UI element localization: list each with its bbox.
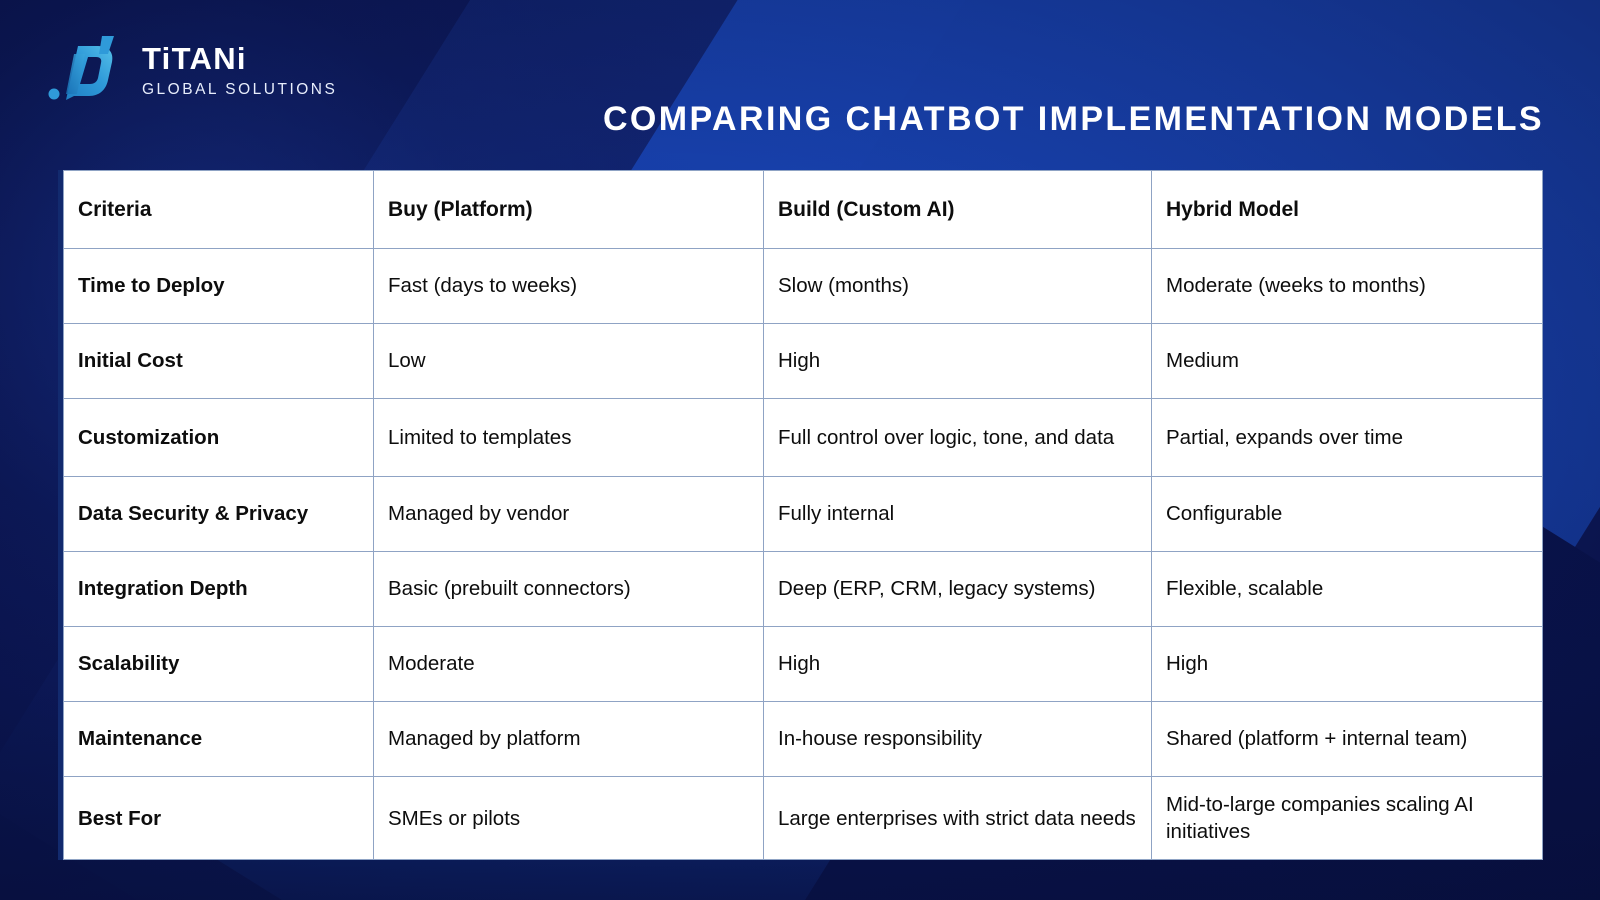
cell-hybrid: Mid-to-large companies scaling AI initia…	[1152, 777, 1543, 860]
cell-build: Full control over logic, tone, and data	[764, 399, 1152, 477]
cell-buy: Managed by vendor	[374, 477, 764, 552]
table-row: Customization Limited to templates Full …	[64, 399, 1543, 477]
cell-build: Fully internal	[764, 477, 1152, 552]
column-header-build: Build (Custom AI)	[764, 171, 1152, 249]
cell-buy: Fast (days to weeks)	[374, 249, 764, 324]
cell-criteria: Customization	[64, 399, 374, 477]
cell-buy: Limited to templates	[374, 399, 764, 477]
cell-build: Large enterprises with strict data needs	[764, 777, 1152, 860]
table-row: Data Security & Privacy Managed by vendo…	[64, 477, 1543, 552]
titani-logo-mark-icon	[44, 32, 128, 108]
table-row: Best For SMEs or pilots Large enterprise…	[64, 777, 1543, 860]
brand-logo-text: TiTANi GLOBAL SOLUTIONS	[142, 39, 337, 101]
cell-criteria: Best For	[64, 777, 374, 860]
column-header-criteria: Criteria	[64, 171, 374, 249]
brand-logo: TiTANi GLOBAL SOLUTIONS	[44, 32, 337, 108]
cell-build: Slow (months)	[764, 249, 1152, 324]
cell-criteria: Time to Deploy	[64, 249, 374, 324]
table-row: Maintenance Managed by platform In-house…	[64, 702, 1543, 777]
cell-build: Deep (ERP, CRM, legacy systems)	[764, 552, 1152, 627]
cell-buy: Basic (prebuilt connectors)	[374, 552, 764, 627]
brand-name: TiTANi	[142, 43, 337, 75]
slide-header: TiTANi GLOBAL SOLUTIONS COMPARING CHATBO…	[0, 0, 1600, 168]
cell-hybrid: Configurable	[1152, 477, 1543, 552]
cell-criteria: Maintenance	[64, 702, 374, 777]
table-body: Time to Deploy Fast (days to weeks) Slow…	[64, 249, 1543, 860]
cell-hybrid: Flexible, scalable	[1152, 552, 1543, 627]
cell-criteria: Initial Cost	[64, 324, 374, 399]
table-header: Criteria Buy (Platform) Build (Custom AI…	[64, 171, 1543, 249]
cell-hybrid: High	[1152, 627, 1543, 702]
cell-hybrid: Partial, expands over time	[1152, 399, 1543, 477]
cell-buy: Managed by platform	[374, 702, 764, 777]
cell-criteria: Data Security & Privacy	[64, 477, 374, 552]
column-header-hybrid: Hybrid Model	[1152, 171, 1543, 249]
cell-build: In-house responsibility	[764, 702, 1152, 777]
brand-tagline: GLOBAL SOLUTIONS	[142, 78, 337, 101]
cell-criteria: Integration Depth	[64, 552, 374, 627]
column-header-buy: Buy (Platform)	[374, 171, 764, 249]
table-row: Scalability Moderate High High	[64, 627, 1543, 702]
cell-hybrid: Medium	[1152, 324, 1543, 399]
table-row: Integration Depth Basic (prebuilt connec…	[64, 552, 1543, 627]
cell-hybrid: Moderate (weeks to months)	[1152, 249, 1543, 324]
cell-buy: Low	[374, 324, 764, 399]
table-row: Initial Cost Low High Medium	[64, 324, 1543, 399]
cell-buy: SMEs or pilots	[374, 777, 764, 860]
cell-hybrid: Shared (platform + internal team)	[1152, 702, 1543, 777]
table-header-row: Criteria Buy (Platform) Build (Custom AI…	[64, 171, 1543, 249]
comparison-table-container: Criteria Buy (Platform) Build (Custom AI…	[58, 170, 1542, 860]
cell-build: High	[764, 627, 1152, 702]
cell-criteria: Scalability	[64, 627, 374, 702]
page-title: COMPARING CHATBOT IMPLEMENTATION MODELS	[603, 100, 1544, 139]
table-row: Time to Deploy Fast (days to weeks) Slow…	[64, 249, 1543, 324]
slide-canvas: TiTANi GLOBAL SOLUTIONS COMPARING CHATBO…	[0, 0, 1600, 900]
comparison-table: Criteria Buy (Platform) Build (Custom AI…	[63, 170, 1543, 860]
cell-build: High	[764, 324, 1152, 399]
cell-buy: Moderate	[374, 627, 764, 702]
